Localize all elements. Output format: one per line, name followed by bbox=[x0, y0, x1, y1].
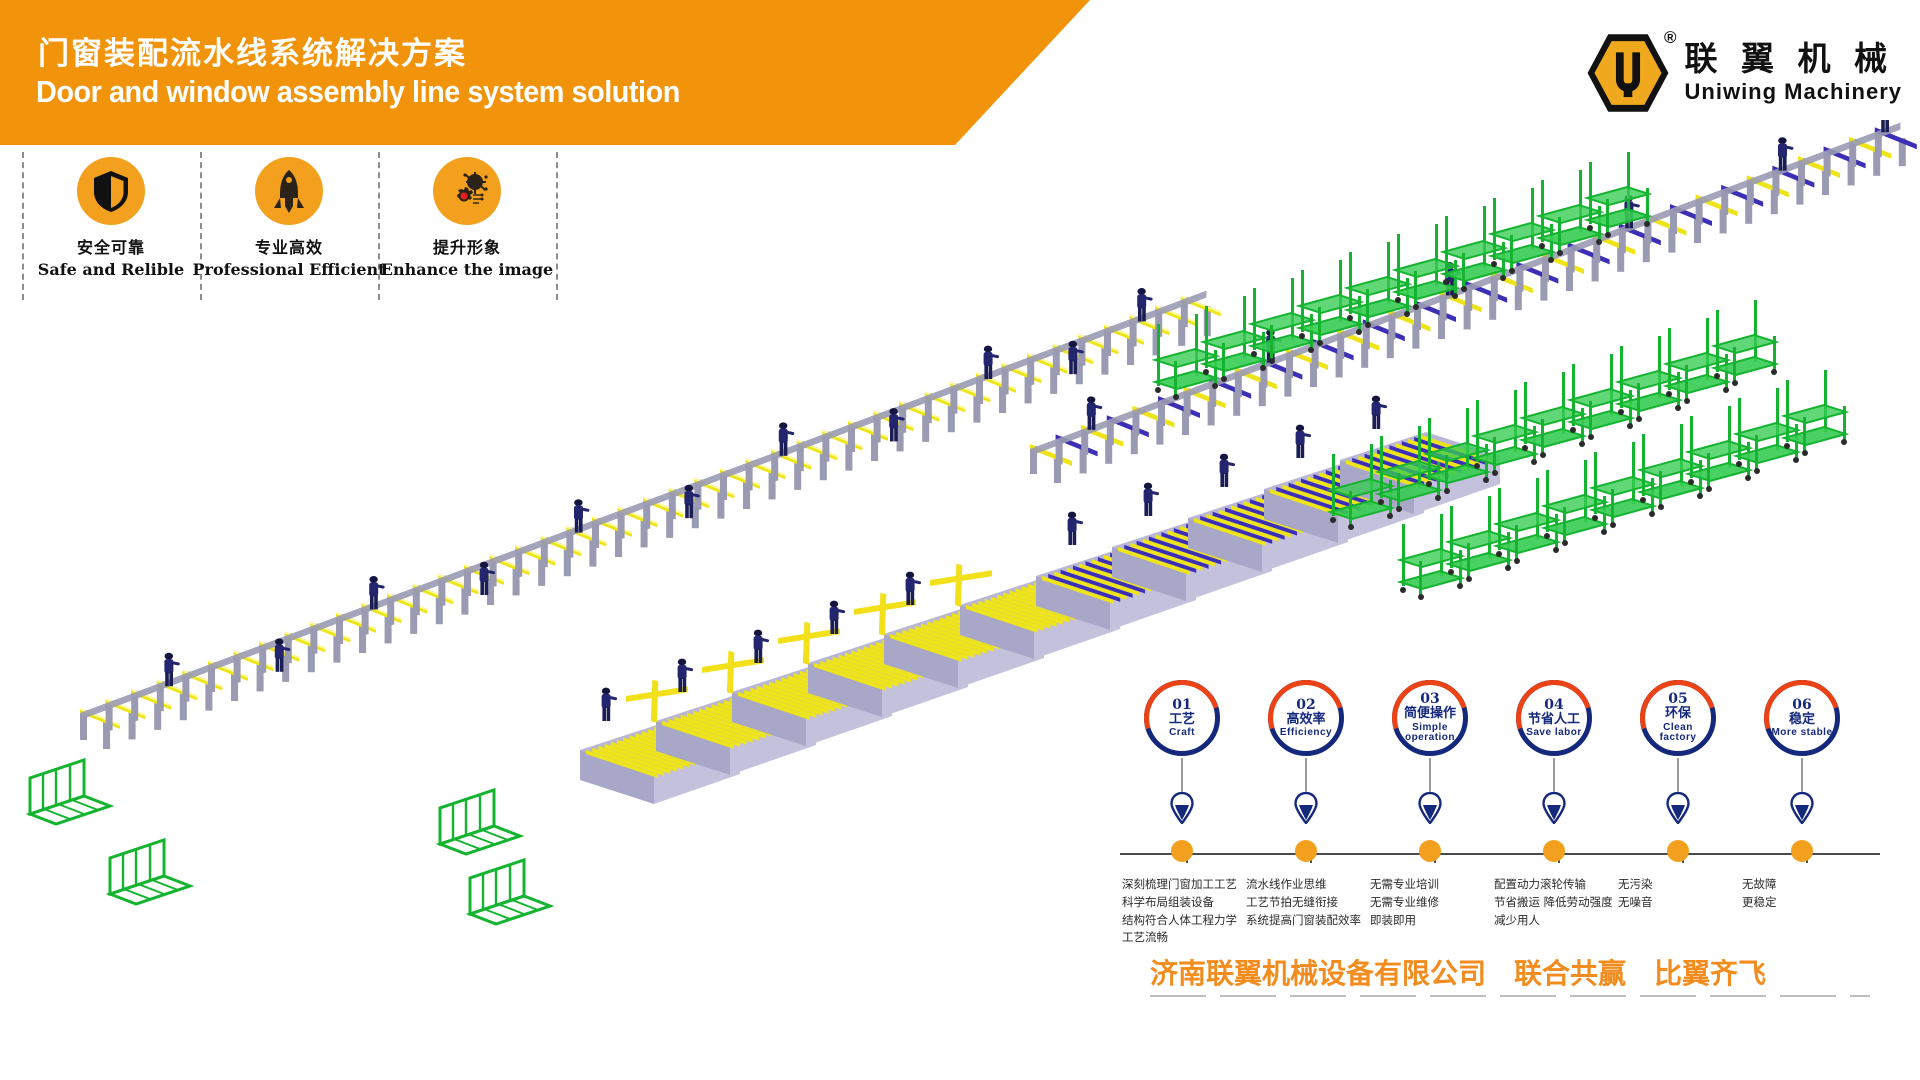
timeline-number: 04 bbox=[1544, 698, 1563, 712]
logo-name-en: Uniwing Machinery bbox=[1685, 78, 1902, 106]
page-title-en: Door and window assembly line system sol… bbox=[36, 74, 680, 110]
timeline-stem bbox=[1677, 758, 1679, 794]
timeline-title-en: Efficiency bbox=[1280, 728, 1332, 739]
timeline-dot bbox=[1171, 840, 1193, 862]
timeline-ring: 06 稳定 More stable bbox=[1764, 680, 1840, 756]
timeline-description: 无需专业培训无需专业维修 即装即用 bbox=[1370, 876, 1498, 929]
timeline-title-en: More stable bbox=[1771, 728, 1832, 739]
timeline-dot bbox=[1543, 840, 1565, 862]
timeline-ring: 03 简便操作 Simple operation bbox=[1392, 680, 1468, 756]
timeline-dot bbox=[1295, 840, 1317, 862]
brand-logo: ® 联 翼 机 械 Uniwing Machinery bbox=[1585, 30, 1902, 116]
timeline-title-cn: 工艺 bbox=[1169, 713, 1195, 727]
slogan-text: 济南联翼机械设备有限公司 联合共赢 比翼齐飞 bbox=[1150, 952, 1910, 992]
map-pin-icon bbox=[1294, 792, 1318, 824]
timeline-item-02[interactable]: 02 高效率 Efficiency 流水线作业思维工艺节拍无缝衔接 系统提高门窗… bbox=[1244, 680, 1368, 756]
timeline-ring: 04 节省人工 Save labor bbox=[1516, 680, 1592, 756]
map-pin-icon bbox=[1170, 792, 1194, 824]
hexagon-u-logo-icon: ® bbox=[1585, 30, 1671, 116]
map-pin-icon bbox=[1418, 792, 1442, 824]
timeline-title-en: Clean factory bbox=[1645, 723, 1711, 744]
registered-trademark-icon: ® bbox=[1664, 28, 1677, 48]
timeline-title-cn: 高效率 bbox=[1286, 713, 1325, 727]
timeline-stem bbox=[1305, 758, 1307, 794]
timeline-stem bbox=[1181, 758, 1183, 794]
timeline-item-06[interactable]: 06 稳定 More stable 无故障更稳定 bbox=[1740, 680, 1864, 756]
timeline-description: 无故障更稳定 bbox=[1742, 876, 1870, 912]
timeline-number: 01 bbox=[1172, 698, 1191, 712]
timeline-dot bbox=[1419, 840, 1441, 862]
benefits-timeline: 01 工艺 Craft 深刻梳理门窗加工工艺科学布局组装设备 结构符合人体工程力… bbox=[1120, 680, 1900, 990]
slogan-underline bbox=[1150, 995, 1870, 997]
timeline-item-05[interactable]: 05 环保 Clean factory 无污染无噪音 bbox=[1616, 680, 1740, 756]
timeline-stem bbox=[1553, 758, 1555, 794]
timeline-title-en: Craft bbox=[1169, 728, 1195, 739]
logo-name-cn: 联 翼 机 械 bbox=[1685, 40, 1902, 78]
timeline-item-04[interactable]: 04 节省人工 Save labor 配置动力滚轮传输节省搬运 降低劳动强度 减… bbox=[1492, 680, 1616, 756]
timeline-number: 02 bbox=[1296, 698, 1315, 712]
timeline-title-cn: 环保 bbox=[1665, 707, 1691, 721]
timeline-number: 05 bbox=[1668, 692, 1687, 706]
timeline-title-cn: 稳定 bbox=[1789, 713, 1815, 727]
timeline-title-cn: 节省人工 bbox=[1528, 713, 1580, 727]
timeline-ring: 05 环保 Clean factory bbox=[1640, 680, 1716, 756]
timeline-number: 03 bbox=[1420, 692, 1439, 706]
map-pin-icon bbox=[1542, 792, 1566, 824]
timeline-dot bbox=[1667, 840, 1689, 862]
green-trolley-row bbox=[1155, 152, 1650, 400]
green-rack-group bbox=[30, 760, 550, 924]
timeline-description: 流水线作业思维工艺节拍无缝衔接 系统提高门窗装配效率 bbox=[1246, 876, 1374, 929]
timeline-title-cn: 简便操作 bbox=[1404, 707, 1456, 721]
page-title-cn: 门窗装配流水线系统解决方案 bbox=[38, 28, 467, 73]
timeline-description: 配置动力滚轮传输节省搬运 降低劳动强度 减少用人 bbox=[1494, 876, 1622, 929]
timeline-dot bbox=[1791, 840, 1813, 862]
timeline-stem bbox=[1801, 758, 1803, 794]
timeline-title-en: Save labor bbox=[1526, 728, 1582, 739]
map-pin-icon bbox=[1790, 792, 1814, 824]
timeline-description: 无污染无噪音 bbox=[1618, 876, 1746, 912]
timeline-ring: 02 高效率 Efficiency bbox=[1268, 680, 1344, 756]
timeline-number: 06 bbox=[1792, 698, 1811, 712]
timeline-item-01[interactable]: 01 工艺 Craft 深刻梳理门窗加工工艺科学布局组装设备 结构符合人体工程力… bbox=[1120, 680, 1244, 756]
map-pin-icon bbox=[1666, 792, 1690, 824]
timeline-ring: 01 工艺 Craft bbox=[1144, 680, 1220, 756]
company-slogan: 济南联翼机械设备有限公司 联合共赢 比翼齐飞 bbox=[1150, 952, 1910, 997]
timeline-title-en: Simple operation bbox=[1397, 723, 1463, 744]
timeline-item-03[interactable]: 03 简便操作 Simple operation 无需专业培训无需专业维修 即装… bbox=[1368, 680, 1492, 756]
timeline-stem bbox=[1429, 758, 1431, 794]
timeline-axis bbox=[1120, 853, 1880, 855]
timeline-description: 深刻梳理门窗加工工艺科学布局组装设备 结构符合人体工程力学工艺流畅 bbox=[1122, 876, 1250, 947]
